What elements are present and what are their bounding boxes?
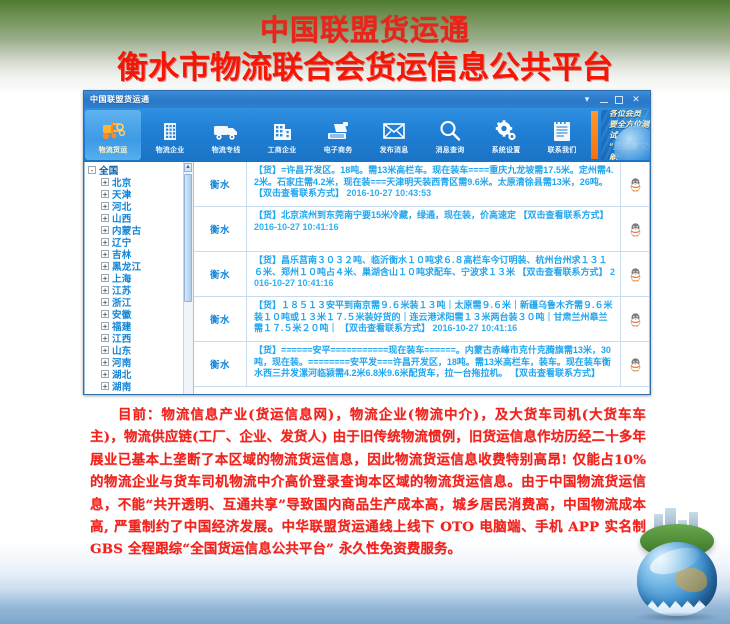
globe-illustration [632, 508, 722, 620]
description-paragraph: 目前：物流信息产业(货运信息网)，物流企业(物流中介)，及大货车司机(大货车车主… [90, 404, 646, 561]
tree-node-province[interactable]: +辽宁 [88, 236, 193, 248]
page-headline: 中国联盟货运通 衡水市物流联合会货运信息公共平台 [0, 12, 730, 88]
tree-expand-icon[interactable]: + [101, 274, 109, 282]
row-region: 衡水 [194, 342, 247, 386]
tree-node-province[interactable]: +浙江 [88, 296, 193, 308]
tree-node-province[interactable]: +内蒙古 [88, 224, 193, 236]
row-contact-button[interactable] [621, 297, 649, 341]
toolbar-label: 发布消息 [380, 145, 409, 155]
tree-expand-icon[interactable]: + [101, 346, 109, 354]
qq-penguin-icon [629, 312, 642, 327]
freight-message-list[interactable]: 衡水【货】=许昌开发区。18吨。需13米高栏车。现在装车====重庆九龙坡需17… [194, 162, 650, 395]
tree-scrollbar[interactable]: ▲ [183, 162, 193, 395]
tree-collapse-icon[interactable]: - [88, 166, 96, 174]
toolbar-label: 物流专线 [212, 145, 241, 155]
row-contact-button[interactable] [621, 252, 649, 296]
tree-node-province[interactable]: +湖北 [88, 368, 193, 380]
tree-node-province[interactable]: +黑龙江 [88, 260, 193, 272]
row-message-text: 【货】======安平===========现在装车======。内蒙古赤峰市克… [254, 345, 611, 378]
tree-expand-icon[interactable]: + [101, 262, 109, 270]
toolbar-item-wuliuhuoyun[interactable]: 物流货运 [85, 110, 141, 160]
toolbar-label: 消息查询 [436, 145, 465, 155]
tree-node-province[interactable]: +湖南 [88, 380, 193, 392]
gear-icon [494, 117, 518, 144]
tree-expand-icon[interactable]: + [101, 214, 109, 222]
region-tree-panel: - 全国 +北京+天津+河北+山西+内蒙古+辽宁+吉林+黑龙江+上海+江苏+浙江… [84, 162, 194, 395]
banner-line-1: 各位会员 [609, 110, 650, 119]
truck-icon [212, 117, 240, 144]
row-timestamp: 2016-10-27 10:43:53 [347, 188, 432, 198]
toolbar-item-lianxiwomen[interactable]: 联系我们 [534, 108, 590, 162]
row-region: 衡水 [194, 207, 247, 251]
minimize-icon[interactable] [600, 97, 608, 103]
tree-expand-icon[interactable]: + [101, 370, 109, 378]
toolbar-label: 电子商务 [324, 145, 353, 155]
row-message-text: 【货】昌乐莒南３０３２吨、临沂衡水１０吨求６.８高栏车今订明装、杭州台州求１３１… [254, 255, 608, 277]
toolbar-label: 工商企业 [268, 145, 297, 155]
window-controls: ▾ ✕ [581, 91, 648, 108]
toolbar-item-gongshangqiye[interactable]: 工商企业 [254, 108, 310, 162]
toolbar-item-fabuxiaoxi[interactable]: 发布消息 [366, 108, 422, 162]
row-timestamp: 2016-10-27 10:41:16 [254, 222, 339, 232]
building-icon [270, 117, 294, 144]
tree-node-province[interactable]: +天津 [88, 188, 193, 200]
ecommerce-icon [325, 117, 351, 144]
tree-expand-icon[interactable]: + [101, 250, 109, 258]
toolbar-label: 联系我们 [548, 145, 577, 155]
qq-penguin-icon [629, 267, 642, 282]
tree-expand-icon[interactable]: + [101, 358, 109, 366]
window-title: 中国联盟货运通 [90, 94, 150, 105]
table-row[interactable]: 衡水【货】昌乐莒南３０３２吨、临沂衡水１０吨求６.８高栏车今订明装、杭州台州求１… [194, 252, 649, 297]
row-message-cell[interactable]: 【货】=许昌开发区。18吨。需13米高栏车。现在装车====重庆九龙坡需17.5… [247, 162, 621, 206]
toolbar-label: 系统设置 [492, 145, 521, 155]
row-region: 衡水 [194, 162, 247, 206]
toolbar-divider [591, 111, 598, 159]
tree-expand-icon[interactable]: + [101, 238, 109, 246]
tree-node-province[interactable]: +江西 [88, 332, 193, 344]
globe-shadow [634, 612, 720, 622]
promo-banner[interactable]: 各位会员 要全方位测试 “货运通”功能! [601, 110, 650, 160]
table-row[interactable]: 衡水【货】======安平===========现在装车======。内蒙古赤峰… [194, 342, 649, 387]
globe-continent [675, 568, 707, 592]
tree-expand-icon[interactable]: + [101, 382, 109, 390]
toolbar-item-xiaoxichaxun[interactable]: 消息查询 [422, 108, 478, 162]
tree-node-province[interactable]: +上海 [88, 272, 193, 284]
toolbar-label: 物流货运 [99, 145, 128, 155]
tree-expand-icon[interactable]: + [101, 322, 109, 330]
tree-node-province[interactable]: +山东 [88, 344, 193, 356]
qq-penguin-icon [629, 357, 642, 372]
tree-node-province[interactable]: +福建 [88, 320, 193, 332]
tree-node-province[interactable]: +河南 [88, 356, 193, 368]
factory-icon [158, 117, 182, 144]
tree-node-province[interactable]: +江苏 [88, 284, 193, 296]
row-region: 衡水 [194, 252, 247, 296]
toolbar-item-wuliuzhuanxian[interactable]: 物流专线 [198, 108, 254, 162]
table-row[interactable]: 衡水【货】１８５１３安平到南京需９.６米装１３吨｜太原需９.６米｜新疆乌鲁木齐需… [194, 297, 649, 342]
tree-expand-icon[interactable]: + [101, 226, 109, 234]
row-contact-button[interactable] [621, 342, 649, 386]
tree-expand-icon[interactable]: + [101, 202, 109, 210]
row-message-cell[interactable]: 【货】１８５１３安平到南京需９.６米装１３吨｜太原需９.６米｜新疆乌鲁木齐需９.… [247, 297, 621, 341]
toolbar-item-dianzishangwu[interactable]: 电子商务 [310, 108, 366, 162]
tree-node-province[interactable]: +安徽 [88, 308, 193, 320]
tree-expand-icon[interactable]: + [101, 178, 109, 186]
tree-expand-icon[interactable]: + [101, 334, 109, 342]
globe-sphere [637, 542, 717, 616]
maximize-icon[interactable] [615, 96, 623, 104]
main-toolbar: 物流货运 物流企业 [84, 108, 650, 162]
forklift-icon [100, 117, 126, 144]
document-icon [551, 117, 573, 144]
app-window: 中国联盟货运通 ▾ ✕ 物流货运 [83, 90, 651, 395]
toolbar-item-wuliuqiye[interactable]: 物流企业 [142, 108, 198, 162]
tree-node-province[interactable]: +北京 [88, 176, 193, 188]
table-row[interactable]: 衡水【货】北京滨州到东莞南宁要15米冷藏，绿通，现在装，价高速定 【双击查看联系… [194, 207, 649, 252]
row-message-cell[interactable]: 【货】======安平===========现在装车======。内蒙古赤峰市克… [247, 342, 621, 386]
window-titlebar: 中国联盟货运通 ▾ ✕ [84, 91, 650, 108]
row-contact-button[interactable] [621, 162, 649, 206]
row-contact-button[interactable] [621, 207, 649, 251]
toolbar-label: 物流企业 [156, 145, 185, 155]
dropdown-icon[interactable]: ▾ [581, 95, 593, 104]
toolbar-item-xitongshezhi[interactable]: 系统设置 [478, 108, 534, 162]
tree-expand-icon[interactable]: + [101, 298, 109, 306]
row-message-text: 【货】=许昌开发区。18吨。需13米高栏车。现在装车====重庆九龙坡需17.5… [254, 165, 613, 198]
row-message-cell[interactable]: 【货】北京滨州到东莞南宁要15米冷藏，绿通，现在装，价高速定 【双击查看联系方式… [247, 207, 621, 251]
tree-node-root[interactable]: - 全国 [88, 164, 193, 176]
region-tree: - 全国 +北京+天津+河北+山西+内蒙古+辽宁+吉林+黑龙江+上海+江苏+浙江… [85, 162, 193, 392]
envelope-icon [381, 117, 407, 144]
row-region: 衡水 [194, 297, 247, 341]
app-body: - 全国 +北京+天津+河北+山西+内蒙古+辽宁+吉林+黑龙江+上海+江苏+浙江… [84, 162, 650, 395]
qq-penguin-icon [629, 222, 642, 237]
scrollbar-thumb[interactable] [184, 174, 192, 302]
row-timestamp: 2016-10-27 10:41:16 [433, 323, 518, 333]
row-message-cell[interactable]: 【货】昌乐莒南３０３２吨、临沂衡水１０吨求６.８高栏车今订明装、杭州台州求１３１… [247, 252, 621, 296]
row-message-text: 【货】北京滨州到东莞南宁要15米冷藏，绿通，现在装，价高速定 【双击查看联系方式… [254, 210, 609, 220]
search-icon [438, 117, 462, 144]
headline-line-1: 中国联盟货运通 [0, 12, 730, 48]
tree-node-province[interactable]: +河北 [88, 200, 193, 212]
tree-expand-icon[interactable]: + [101, 190, 109, 198]
headline-line-2: 衡水市物流联合会货运信息公共平台 [0, 48, 730, 88]
tree-node-label: 湖南 [112, 379, 132, 393]
tree-expand-icon[interactable]: + [101, 286, 109, 294]
scroll-up-icon[interactable]: ▲ [184, 163, 192, 172]
close-icon[interactable]: ✕ [630, 95, 642, 104]
table-row[interactable]: 衡水【货】=许昌开发区。18吨。需13米高栏车。现在装车====重庆九龙坡需17… [194, 162, 649, 207]
qq-penguin-icon [629, 177, 642, 192]
tree-expand-icon[interactable]: + [101, 310, 109, 318]
